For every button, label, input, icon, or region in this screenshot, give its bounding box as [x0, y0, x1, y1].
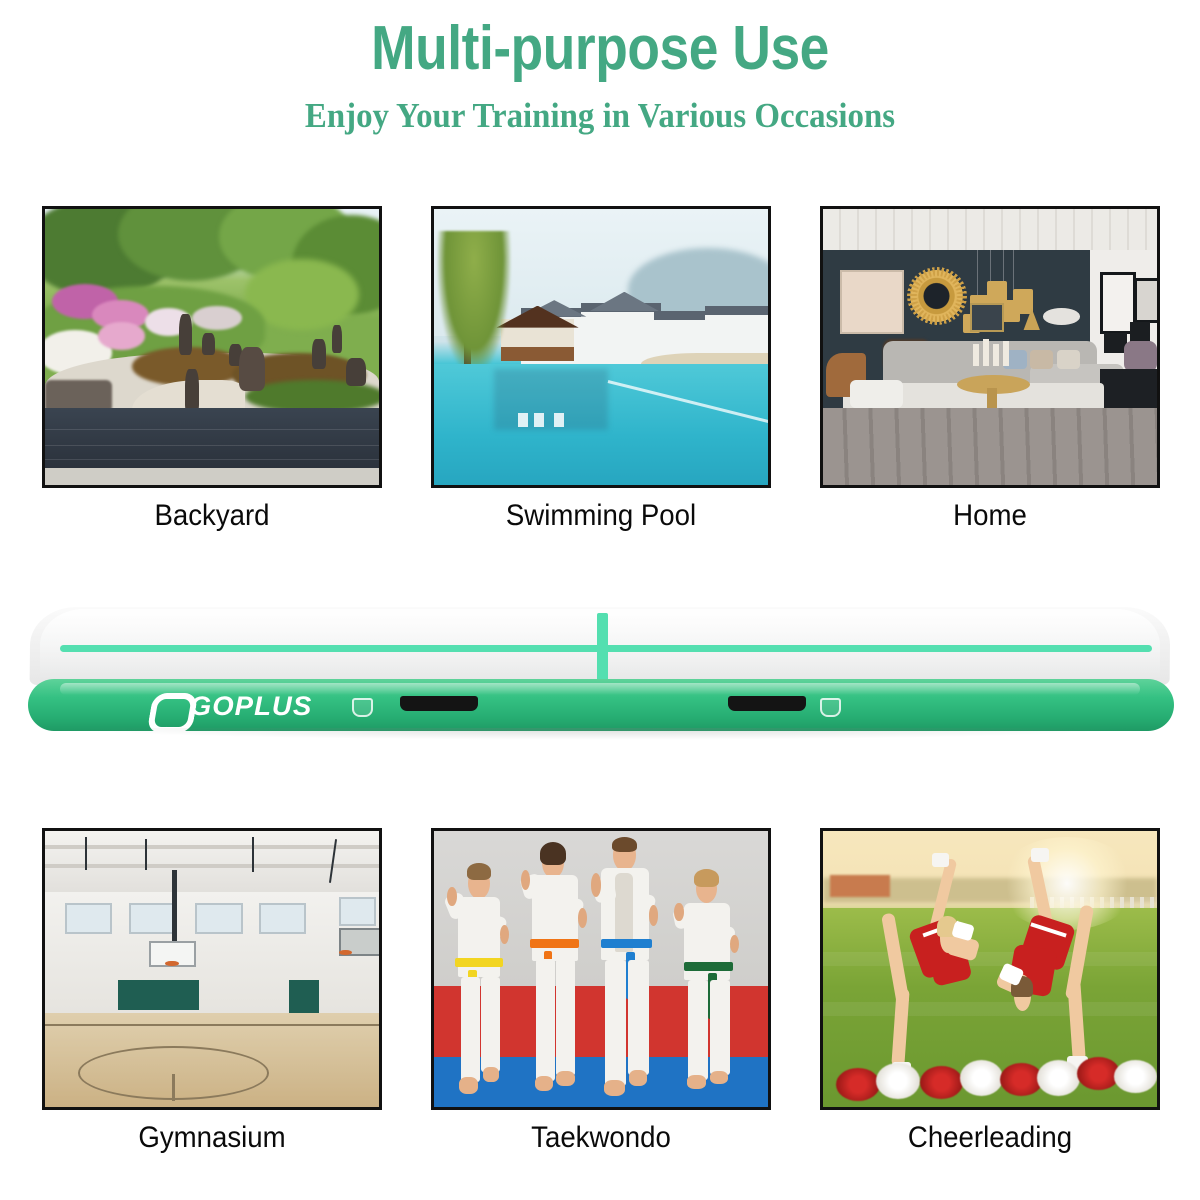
kid-yellow-belt [447, 859, 520, 1096]
air-valve-left [352, 698, 373, 717]
brand-name: GOPLUS [190, 691, 312, 722]
cheerleader-right [977, 848, 1111, 1085]
gp-monogram-icon [150, 693, 184, 721]
photo-frame-gymnasium [42, 828, 382, 1110]
scene-swimming-pool [434, 209, 768, 485]
caption-taekwondo: Taekwondo [445, 1121, 758, 1155]
caption-home: Home [834, 499, 1147, 533]
kid-orange-belt [521, 842, 598, 1096]
caption-cheerleading: Cheerleading [834, 1121, 1147, 1155]
kid-green-belt [674, 867, 751, 1093]
carry-handle-left [400, 696, 478, 711]
carry-handle-right [728, 696, 806, 711]
gallery-top-row: Backyard [42, 206, 1160, 533]
caption-gymnasium: Gymnasium [56, 1121, 369, 1155]
gallery-item-backyard: Backyard [42, 206, 382, 533]
brand-logo: GOPLUS [150, 691, 311, 722]
caption-swimming-pool: Swimming Pool [445, 499, 758, 533]
scene-home-interior [823, 209, 1157, 485]
mat-cross-marker [597, 613, 608, 681]
photo-frame-home [820, 206, 1160, 488]
photo-frame-swimming-pool [431, 206, 771, 488]
gallery-item-home: Home [820, 206, 1160, 533]
photo-frame-cheerleading [820, 828, 1160, 1110]
air-valve-right [820, 698, 841, 717]
caption-backyard: Backyard [56, 499, 369, 533]
gallery-item-swimming-pool: Swimming Pool [431, 206, 771, 533]
gallery-item-gymnasium: Gymnasium [42, 828, 382, 1155]
photo-frame-taekwondo [431, 828, 771, 1110]
marketing-image: Multi-purpose Use Enjoy Your Training in… [0, 0, 1200, 1200]
scene-gymnasium [45, 831, 379, 1107]
scene-zen-garden [45, 209, 379, 485]
page-title: Multi-purpose Use [84, 18, 1116, 80]
gallery-item-taekwondo: Taekwondo [431, 828, 771, 1155]
photo-frame-backyard [42, 206, 382, 488]
gallery-item-cheerleading: Cheerleading [820, 828, 1160, 1155]
scene-cheerleading [823, 831, 1157, 1107]
page-subtitle: Enjoy Your Training in Various Occasions [36, 96, 1164, 136]
gallery-bottom-row: Gymnasium [42, 828, 1160, 1155]
scene-taekwondo-kids [434, 831, 768, 1107]
product-air-track-mat: GOPLUS [0, 595, 1200, 770]
kid-blue-belt [591, 837, 671, 1099]
mat-drop-shadow [60, 728, 1140, 740]
header-block: Multi-purpose Use Enjoy Your Training in… [0, 0, 1200, 136]
